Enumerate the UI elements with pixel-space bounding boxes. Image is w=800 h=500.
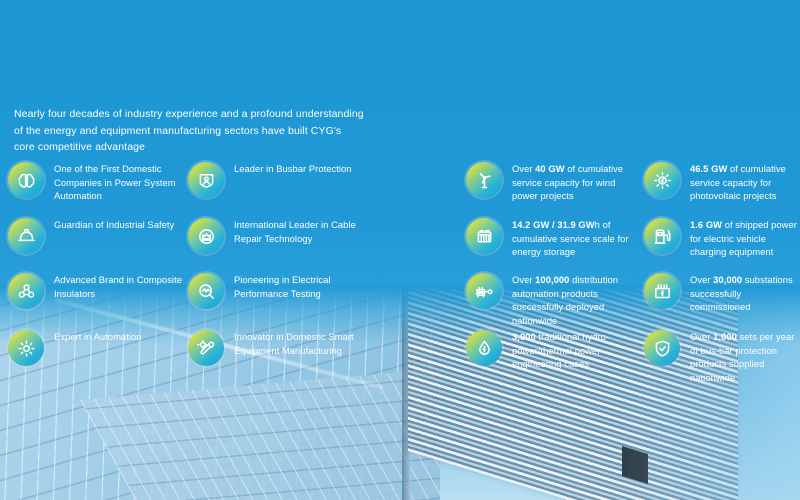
brain-gear-bolt-icon	[8, 162, 44, 198]
ev-charger-icon	[644, 218, 680, 254]
highlight-item-label: One of the First Domestic Companies in P…	[54, 162, 188, 203]
highlight-item-label: Pioneering in Electrical Performance Tes…	[234, 273, 363, 300]
highlight-item[interactable]: Over 1,000 sets per year of bus-bar prot…	[644, 330, 800, 384]
highlight-item[interactable]: Pioneering in Electrical Performance Tes…	[188, 273, 363, 309]
label-prefix: Over	[690, 274, 713, 285]
highlight-item[interactable]: Expert in Automation	[8, 330, 188, 366]
label-metric-value: 30,000	[713, 274, 742, 285]
highlight-item-label: International Leader in Cable Repair Tec…	[234, 218, 363, 245]
highlight-item[interactable]: 1.6 GW of shipped power for electric veh…	[644, 218, 800, 259]
label-metric-value: 14.2 GW / 31.9 GW	[512, 219, 595, 230]
highlight-item[interactable]: 3,000 traditional hydro-power/thermal po…	[466, 330, 638, 371]
highlight-item[interactable]: Guardian of Industrial Safety	[8, 218, 188, 254]
highlight-item[interactable]: Over 40 GW of cumulative service capacit…	[466, 162, 638, 203]
label-metric-value: 100,000	[535, 274, 569, 285]
intro-paragraph: Nearly four decades of industry experien…	[14, 106, 364, 156]
highlight-item[interactable]: Advanced Brand in Composite Insulators	[8, 273, 188, 309]
highlight-item-label: Innovator in Domestic Smart Equipment Ma…	[234, 330, 363, 357]
label-metric-value: 1,000	[713, 331, 737, 342]
battery-storage-icon	[466, 218, 502, 254]
highlight-item-label: 3,000 traditional hydro-power/thermal po…	[512, 330, 638, 371]
highlight-item-label: Expert in Automation	[54, 330, 142, 344]
label-metric-value: 3,000	[512, 331, 536, 342]
label-metric-value: 40 GW	[535, 163, 564, 174]
busbar-shield-person-icon	[188, 162, 224, 198]
label-prefix: Over	[512, 163, 535, 174]
highlight-item-label: Over 40 GW of cumulative service capacit…	[512, 162, 638, 203]
label-metric-value: 1.6 GW	[690, 219, 722, 230]
shield-check-icon	[644, 330, 680, 366]
label-prefix: Over	[690, 331, 713, 342]
waveform-magnifier-icon	[188, 273, 224, 309]
wind-turbine-icon	[466, 162, 502, 198]
highlight-item[interactable]: 46.5 GW of cumulative service capacity f…	[644, 162, 800, 203]
highlight-item[interactable]: Over 30,000 substations successfully com…	[644, 273, 800, 314]
highlight-item-label: 14.2 GW / 31.9 GWh of cumulative service…	[512, 218, 638, 259]
highlight-item-label: Over 1,000 sets per year of bus-bar prot…	[690, 330, 800, 384]
highlight-item[interactable]: 14.2 GW / 31.9 GWh of cumulative service…	[466, 218, 638, 259]
smart-tool-gear-icon	[188, 330, 224, 366]
substation-icon	[644, 273, 680, 309]
hydro-water-drop-icon	[466, 330, 502, 366]
hard-hat-icon	[8, 218, 44, 254]
solar-sun-icon	[644, 162, 680, 198]
highlight-item-label: Over 100,000 distribution automation pro…	[512, 273, 638, 327]
composite-insulator-icon	[8, 273, 44, 309]
content-layer: Nearly four decades of industry experien…	[0, 0, 800, 500]
highlight-item-label: Leader in Busbar Protection	[234, 162, 352, 176]
highlight-item[interactable]: Leader in Busbar Protection	[188, 162, 363, 198]
crown-cable-icon	[188, 218, 224, 254]
highlight-item-label: 1.6 GW of shipped power for electric veh…	[690, 218, 800, 259]
poster-stage: Nearly four decades of industry experien…	[0, 0, 800, 500]
highlight-item-label: 46.5 GW of cumulative service capacity f…	[690, 162, 800, 203]
label-metric-value: 46.5 GW	[690, 163, 727, 174]
distribution-automation-icon	[466, 273, 502, 309]
highlight-item-label: Over 30,000 substations successfully com…	[690, 273, 800, 314]
highlight-item[interactable]: Innovator in Domestic Smart Equipment Ma…	[188, 330, 363, 366]
highlight-item[interactable]: International Leader in Cable Repair Tec…	[188, 218, 363, 254]
highlight-item[interactable]: Over 100,000 distribution automation pro…	[466, 273, 638, 327]
highlight-item-label: Advanced Brand in Composite Insulators	[54, 273, 188, 300]
highlight-item[interactable]: One of the First Domestic Companies in P…	[8, 162, 188, 203]
label-prefix: Over	[512, 274, 535, 285]
highlight-item-label: Guardian of Industrial Safety	[54, 218, 174, 232]
gear-automation-icon	[8, 330, 44, 366]
